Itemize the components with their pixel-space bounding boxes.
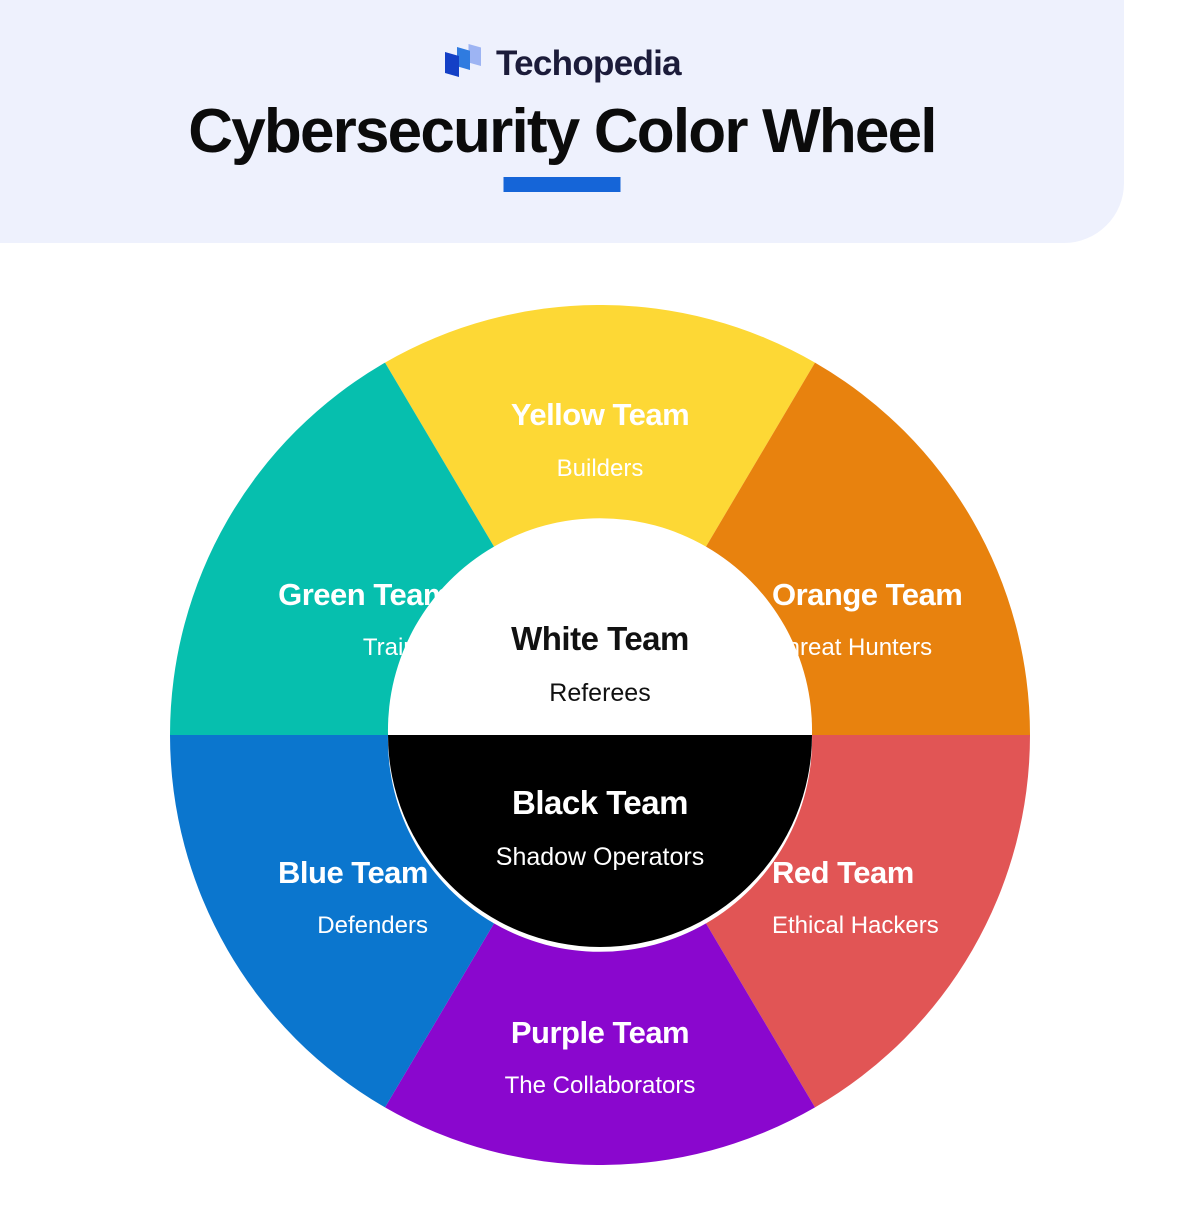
core-role-white: Referees	[549, 679, 650, 707]
slice-label-green: Green Team	[278, 577, 450, 612]
slice-role-blue: Defenders	[317, 912, 428, 939]
infographic-page: Techopedia Cybersecurity Color Wheel Yel…	[0, 0, 1200, 1218]
core-label-black: Black Team	[512, 784, 688, 821]
slice-label-orange: Orange Team	[772, 577, 962, 612]
slice-label-purple: Purple Team	[511, 1015, 689, 1050]
cybersecurity-color-wheel: Yellow Team Builders Orange Team Threat …	[170, 305, 1030, 1165]
brand-name: Techopedia	[496, 46, 681, 81]
header-banner: Techopedia Cybersecurity Color Wheel	[0, 0, 1124, 243]
title-underline-bar	[504, 177, 621, 192]
slice-role-purple: The Collaborators	[505, 1072, 696, 1099]
core-label-white: White Team	[511, 620, 689, 657]
brand-lockup: Techopedia	[0, 42, 1124, 84]
color-wheel-chart: Yellow Team Builders Orange Team Threat …	[170, 305, 1030, 1165]
slice-role-red: Ethical Hackers	[772, 912, 939, 939]
techopedia-logo-icon	[443, 42, 483, 84]
slice-role-yellow: Builders	[557, 455, 644, 482]
slice-label-yellow: Yellow Team	[511, 397, 689, 432]
page-title: Cybersecurity Color Wheel	[0, 98, 1124, 166]
slice-label-red: Red Team	[772, 855, 914, 890]
core-role-black: Shadow Operators	[496, 843, 704, 871]
slice-label-blue: Blue Team	[278, 855, 428, 890]
